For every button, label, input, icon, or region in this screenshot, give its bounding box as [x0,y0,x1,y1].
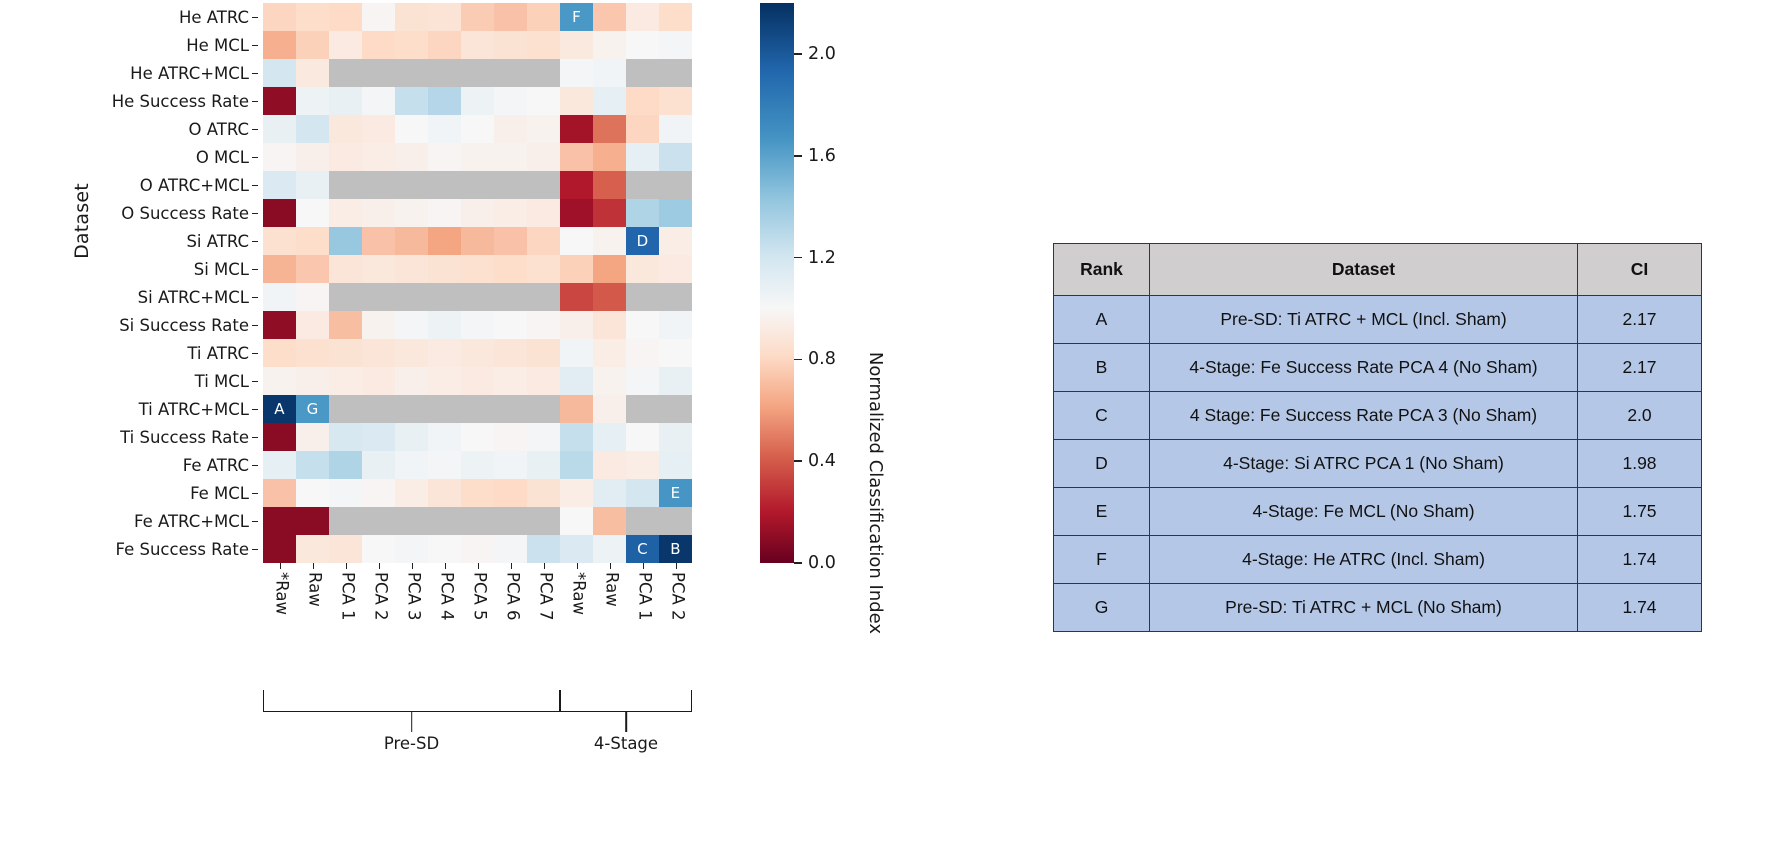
heatmap-cell [560,367,593,395]
heatmap-cell: B [659,535,692,563]
heatmap-cell [329,3,362,31]
heatmap-cell [659,339,692,367]
heatmap-cell [428,507,461,535]
cell-rank: D [1054,440,1150,488]
heatmap-cell [362,395,395,423]
heatmap-cell [428,31,461,59]
heatmap-cell [593,311,626,339]
heatmap-cell [626,59,659,87]
heatmap-cell [329,171,362,199]
cell-dataset: Pre-SD: Ti ATRC + MCL (No Sham) [1150,584,1578,632]
heatmap-cell [461,59,494,87]
heatmap-cell [560,451,593,479]
heatmap-cell [395,423,428,451]
x-tick-mark [395,563,428,570]
heatmap-cell [296,479,329,507]
table-header-row: Rank Dataset CI [1054,244,1702,296]
heatmap-cell [296,339,329,367]
colorbar-tick-mark [794,155,802,157]
heatmap-cell [494,451,527,479]
x-tick-mark [329,563,362,570]
colorbar-tick-mark [794,257,802,259]
heatmap-cell [494,479,527,507]
heatmap-cell [593,3,626,31]
heatmap-cell [593,59,626,87]
heatmap-cell [263,367,296,395]
x-tick-label: PCA 3 [395,572,428,670]
heatmap-cell [626,171,659,199]
heatmap-cell: D [626,227,659,255]
heatmap-cell [659,3,692,31]
heatmap-cell [461,339,494,367]
y-tick-label: O MCL [30,143,258,171]
y-tick-label: Fe MCL [30,479,258,507]
heatmap-cell [263,507,296,535]
heatmap-cell [494,367,527,395]
colorbar-tick-mark [794,562,802,564]
heatmap-cell [395,3,428,31]
heatmap-cell [593,143,626,171]
heatmap-cell [461,115,494,143]
y-tick-label: He ATRC+MCL [30,59,258,87]
heatmap-cell: F [560,3,593,31]
heatmap-cell [527,339,560,367]
heatmap-cell [263,199,296,227]
x-tick-mark [494,563,527,570]
heatmap-cell [461,311,494,339]
heatmap-cell [461,171,494,199]
x-tick-label: *Raw [560,572,593,670]
heatmap-cell [593,87,626,115]
heatmap-cell [263,311,296,339]
heatmap-cell [428,535,461,563]
y-tick-label: Si ATRC+MCL [30,283,258,311]
heatmap-cell [593,507,626,535]
cell-ci: 2.0 [1578,392,1702,440]
y-axis-tick-labels: He ATRCHe MCLHe ATRC+MCLHe Success RateO… [30,3,258,563]
column-header-dataset: Dataset [1150,244,1578,296]
heatmap-cell [428,395,461,423]
heatmap-cell [428,451,461,479]
heatmap-cell [527,199,560,227]
x-tick-label: PCA 2 [659,572,692,670]
x-tick-label: PCA 4 [428,572,461,670]
heatmap-cell [626,115,659,143]
heatmap-cell [362,535,395,563]
heatmap-cell [461,283,494,311]
heatmap-cell [494,395,527,423]
y-tick-label: He Success Rate [30,87,258,115]
heatmap-cell [461,87,494,115]
heatmap-cell [296,367,329,395]
heatmap-cell [428,311,461,339]
heatmap-cell [362,367,395,395]
rank-table: Rank Dataset CI APre-SD: Ti ATRC + MCL (… [1053,243,1702,632]
heatmap-cell [263,283,296,311]
heatmap-cell [494,423,527,451]
group-bracket-pre-sd: Pre-SD [263,690,560,712]
heatmap-cell [428,479,461,507]
heatmap-cell [560,311,593,339]
heatmap-figure: Dataset He ATRCHe MCLHe ATRC+MCLHe Succe… [0,0,980,845]
heatmap-cell [494,143,527,171]
heatmap-cell [395,87,428,115]
heatmap-cell [395,115,428,143]
heatmap-cell [659,87,692,115]
heatmap-cell [362,227,395,255]
heatmap-cell [560,87,593,115]
heatmap-cell [296,31,329,59]
heatmap-cell [593,199,626,227]
heatmap-cell [494,311,527,339]
heatmap-cell [527,535,560,563]
heatmap-cell [461,451,494,479]
heatmap-cell [461,479,494,507]
heatmap-cell [362,423,395,451]
heatmap-cell [494,255,527,283]
heatmap-cell [626,255,659,283]
heatmap-cell [659,143,692,171]
heatmap-cell [461,143,494,171]
heatmap-cell [659,59,692,87]
heatmap-cell [263,31,296,59]
heatmap-cell [362,311,395,339]
heatmap-cell [428,339,461,367]
heatmap-cell [560,143,593,171]
heatmap-cell [329,199,362,227]
cell-dataset: 4-Stage: Si ATRC PCA 1 (No Sham) [1150,440,1578,488]
heatmap-cell [659,115,692,143]
heatmap-cell [296,59,329,87]
heatmap-cell [329,507,362,535]
heatmap-cell [626,507,659,535]
heatmap-cell [428,255,461,283]
heatmap-cell [626,3,659,31]
x-tick-label: Raw [296,572,329,670]
heatmap-cell [329,31,362,59]
heatmap-cell [329,423,362,451]
heatmap-cell [560,507,593,535]
heatmap-cell [461,199,494,227]
heatmap-cell [626,339,659,367]
heatmap-cell [362,339,395,367]
cell-rank: A [1054,296,1150,344]
heatmap-cell [461,31,494,59]
y-tick-label: Fe ATRC [30,451,258,479]
heatmap-cell [527,479,560,507]
heatmap-cell [626,423,659,451]
heatmap-cell [428,423,461,451]
heatmap-cell [527,59,560,87]
cell-dataset: 4-Stage: Fe MCL (No Sham) [1150,488,1578,536]
x-tick-mark [560,563,593,570]
heatmap-cell [428,171,461,199]
heatmap-cell [362,115,395,143]
table-row: APre-SD: Ti ATRC + MCL (Incl. Sham)2.17 [1054,296,1702,344]
heatmap-cell [527,311,560,339]
y-tick-label: Fe Success Rate [30,535,258,563]
y-tick-label: Ti Success Rate [30,423,258,451]
heatmap-cell [527,115,560,143]
heatmap-cell [263,423,296,451]
heatmap-cell [659,423,692,451]
table-row: F4-Stage: He ATRC (Incl. Sham)1.74 [1054,536,1702,584]
cell-ci: 2.17 [1578,296,1702,344]
heatmap-cell [659,395,692,423]
heatmap-cell [560,395,593,423]
heatmap-cell [263,227,296,255]
heatmap-cell [329,87,362,115]
cell-rank: C [1054,392,1150,440]
heatmap-cell [527,227,560,255]
colorbar-tick-label: 0.4 [808,451,836,471]
heatmap-cell [527,395,560,423]
heatmap-cell [362,283,395,311]
y-tick-label: O Success Rate [30,199,258,227]
x-tick-mark [593,563,626,570]
heatmap-cell [560,423,593,451]
heatmap-cell [428,59,461,87]
heatmap-cell [263,171,296,199]
x-tick-label: PCA 7 [527,572,560,670]
x-tick-mark [626,563,659,570]
x-tick-mark [461,563,494,570]
heatmap-cell [296,3,329,31]
heatmap-cell [263,3,296,31]
heatmap-cell [626,31,659,59]
heatmap-cell [362,59,395,87]
heatmap-cell [593,339,626,367]
cell-ci: 1.74 [1578,536,1702,584]
heatmap-cell [494,535,527,563]
heatmap-cell [428,227,461,255]
heatmap-cell [461,367,494,395]
heatmap-cell [626,283,659,311]
heatmap-cell [494,199,527,227]
heatmap-cell [560,171,593,199]
heatmap-cell [527,283,560,311]
heatmap-cell [263,87,296,115]
heatmap-cell [263,451,296,479]
heatmap-cell [659,283,692,311]
heatmap-cell [362,143,395,171]
heatmap-cell [296,255,329,283]
heatmap-cell [494,227,527,255]
heatmap-cell [527,143,560,171]
heatmap-cell [362,87,395,115]
heatmap-cell [461,535,494,563]
heatmap-cell [461,423,494,451]
heatmap-cell [593,451,626,479]
y-tick-label: Si ATRC [30,227,258,255]
y-tick-label: Si MCL [30,255,258,283]
heatmap-grid: FDAGECB [263,3,692,563]
x-tick-mark [263,563,296,570]
colorbar-tick-mark [794,460,802,462]
column-header-rank: Rank [1054,244,1150,296]
heatmap-cell [329,59,362,87]
heatmap-cell [527,423,560,451]
heatmap-cell-annotation: D [626,227,659,255]
heatmap-cell [659,227,692,255]
heatmap-cell [659,171,692,199]
heatmap-cell [329,535,362,563]
heatmap-cell [560,339,593,367]
x-tick-label: PCA 5 [461,572,494,670]
colorbar-tick-label: 0.8 [808,349,836,369]
heatmap-cell: G [296,395,329,423]
heatmap-cell [362,3,395,31]
heatmap-cell [395,311,428,339]
heatmap-cell [362,507,395,535]
heatmap-cell [263,115,296,143]
cell-rank: B [1054,344,1150,392]
heatmap-cell [395,227,428,255]
colorbar-tick-label: 1.2 [808,248,836,268]
colorbar-tick-label: 2.0 [808,44,836,64]
heatmap-cell [395,171,428,199]
heatmap-cell [560,255,593,283]
y-tick-label: O ATRC+MCL [30,171,258,199]
heatmap-cell [626,367,659,395]
x-tick-mark [362,563,395,570]
cell-dataset: 4-Stage: Fe Success Rate PCA 4 (No Sham) [1150,344,1578,392]
heatmap-cell [329,451,362,479]
heatmap-cell [296,311,329,339]
column-header-ci: CI [1578,244,1702,296]
y-tick-label: Fe ATRC+MCL [30,507,258,535]
heatmap-cell-annotation: G [296,395,329,423]
heatmap-cell [593,115,626,143]
heatmap-cell [329,311,362,339]
x-axis-group-brackets: Pre-SD4-Stage [263,690,692,780]
heatmap-cell [329,479,362,507]
x-axis-ticks [263,563,692,570]
heatmap-cell [593,535,626,563]
rank-table-wrapper: Rank Dataset CI APre-SD: Ti ATRC + MCL (… [1053,243,1701,632]
heatmap-cell [527,31,560,59]
heatmap-cell [494,31,527,59]
heatmap-cell [626,395,659,423]
heatmap-cell [527,171,560,199]
cell-rank: G [1054,584,1150,632]
heatmap-cell [626,479,659,507]
heatmap-cell [263,339,296,367]
heatmap-cell [362,255,395,283]
heatmap-cell [593,395,626,423]
heatmap-cell [395,199,428,227]
heatmap-cell [560,31,593,59]
rank-table-head: Rank Dataset CI [1054,244,1702,296]
heatmap-cell [296,227,329,255]
colorbar-tick-mark [794,359,802,361]
x-axis-tick-labels: *RawRawPCA 1PCA 2PCA 3PCA 4PCA 5PCA 6PCA… [263,572,692,670]
heatmap-cell [560,479,593,507]
heatmap-cell [428,87,461,115]
heatmap-cell [329,255,362,283]
heatmap-cell-annotation: E [659,479,692,507]
heatmap-cell [362,451,395,479]
heatmap-cell [428,3,461,31]
heatmap-cell [296,87,329,115]
x-tick-mark [659,563,692,570]
heatmap-cell [395,535,428,563]
heatmap-cell [560,199,593,227]
heatmap-cell [461,507,494,535]
heatmap-cell [329,395,362,423]
heatmap-cell [395,255,428,283]
x-tick-label: PCA 2 [362,572,395,670]
heatmap-cell [527,255,560,283]
heatmap-cell [626,87,659,115]
heatmap-cell [560,283,593,311]
x-tick-mark [428,563,461,570]
cell-ci: 2.17 [1578,344,1702,392]
heatmap-cell [296,143,329,171]
x-tick-mark [296,563,329,570]
colorbar-group: 2.01.61.20.80.40.0 Normalized Classifica… [760,3,980,563]
heatmap-cell [494,171,527,199]
heatmap-cell [593,255,626,283]
heatmap-cell [296,507,329,535]
heatmap-cell [395,59,428,87]
heatmap-cell [329,367,362,395]
heatmap-cell: C [626,535,659,563]
x-tick-label: PCA 6 [494,572,527,670]
heatmap-cell [263,479,296,507]
x-tick-label: *Raw [263,572,296,670]
table-row: C4 Stage: Fe Success Rate PCA 3 (No Sham… [1054,392,1702,440]
table-row: D4-Stage: Si ATRC PCA 1 (No Sham)1.98 [1054,440,1702,488]
rank-table-body: APre-SD: Ti ATRC + MCL (Incl. Sham)2.17B… [1054,296,1702,632]
group-bracket-label: Pre-SD [384,734,439,753]
heatmap-cell [461,395,494,423]
figure-page: Dataset He ATRCHe MCLHe ATRC+MCLHe Succe… [0,0,1772,845]
heatmap-cell [626,143,659,171]
heatmap-cell [494,87,527,115]
heatmap-cell [395,339,428,367]
heatmap-cell [296,171,329,199]
heatmap-cell [296,283,329,311]
heatmap-cell [593,423,626,451]
cell-rank: F [1054,536,1150,584]
heatmap-cell [494,115,527,143]
heatmap-cell [329,339,362,367]
table-row: GPre-SD: Ti ATRC + MCL (No Sham)1.74 [1054,584,1702,632]
heatmap-cell [494,507,527,535]
heatmap-cell [395,395,428,423]
heatmap-cell [494,339,527,367]
group-bracket-4-stage: 4-Stage [560,690,692,712]
heatmap-cell [395,283,428,311]
heatmap-cell [395,479,428,507]
heatmap-cell [362,31,395,59]
heatmap-cell [428,199,461,227]
heatmap-cell [296,451,329,479]
heatmap-cell [263,535,296,563]
heatmap-cell [296,199,329,227]
cell-ci: 1.75 [1578,488,1702,536]
heatmap-cell [527,3,560,31]
heatmap-cell [395,507,428,535]
heatmap-cell-annotation: F [560,3,593,31]
y-tick-label: Ti ATRC [30,339,258,367]
heatmap-cell-annotation: C [626,535,659,563]
table-row: E4-Stage: Fe MCL (No Sham)1.75 [1054,488,1702,536]
heatmap-cell [560,59,593,87]
heatmap-cell [395,31,428,59]
heatmap-cell [659,31,692,59]
